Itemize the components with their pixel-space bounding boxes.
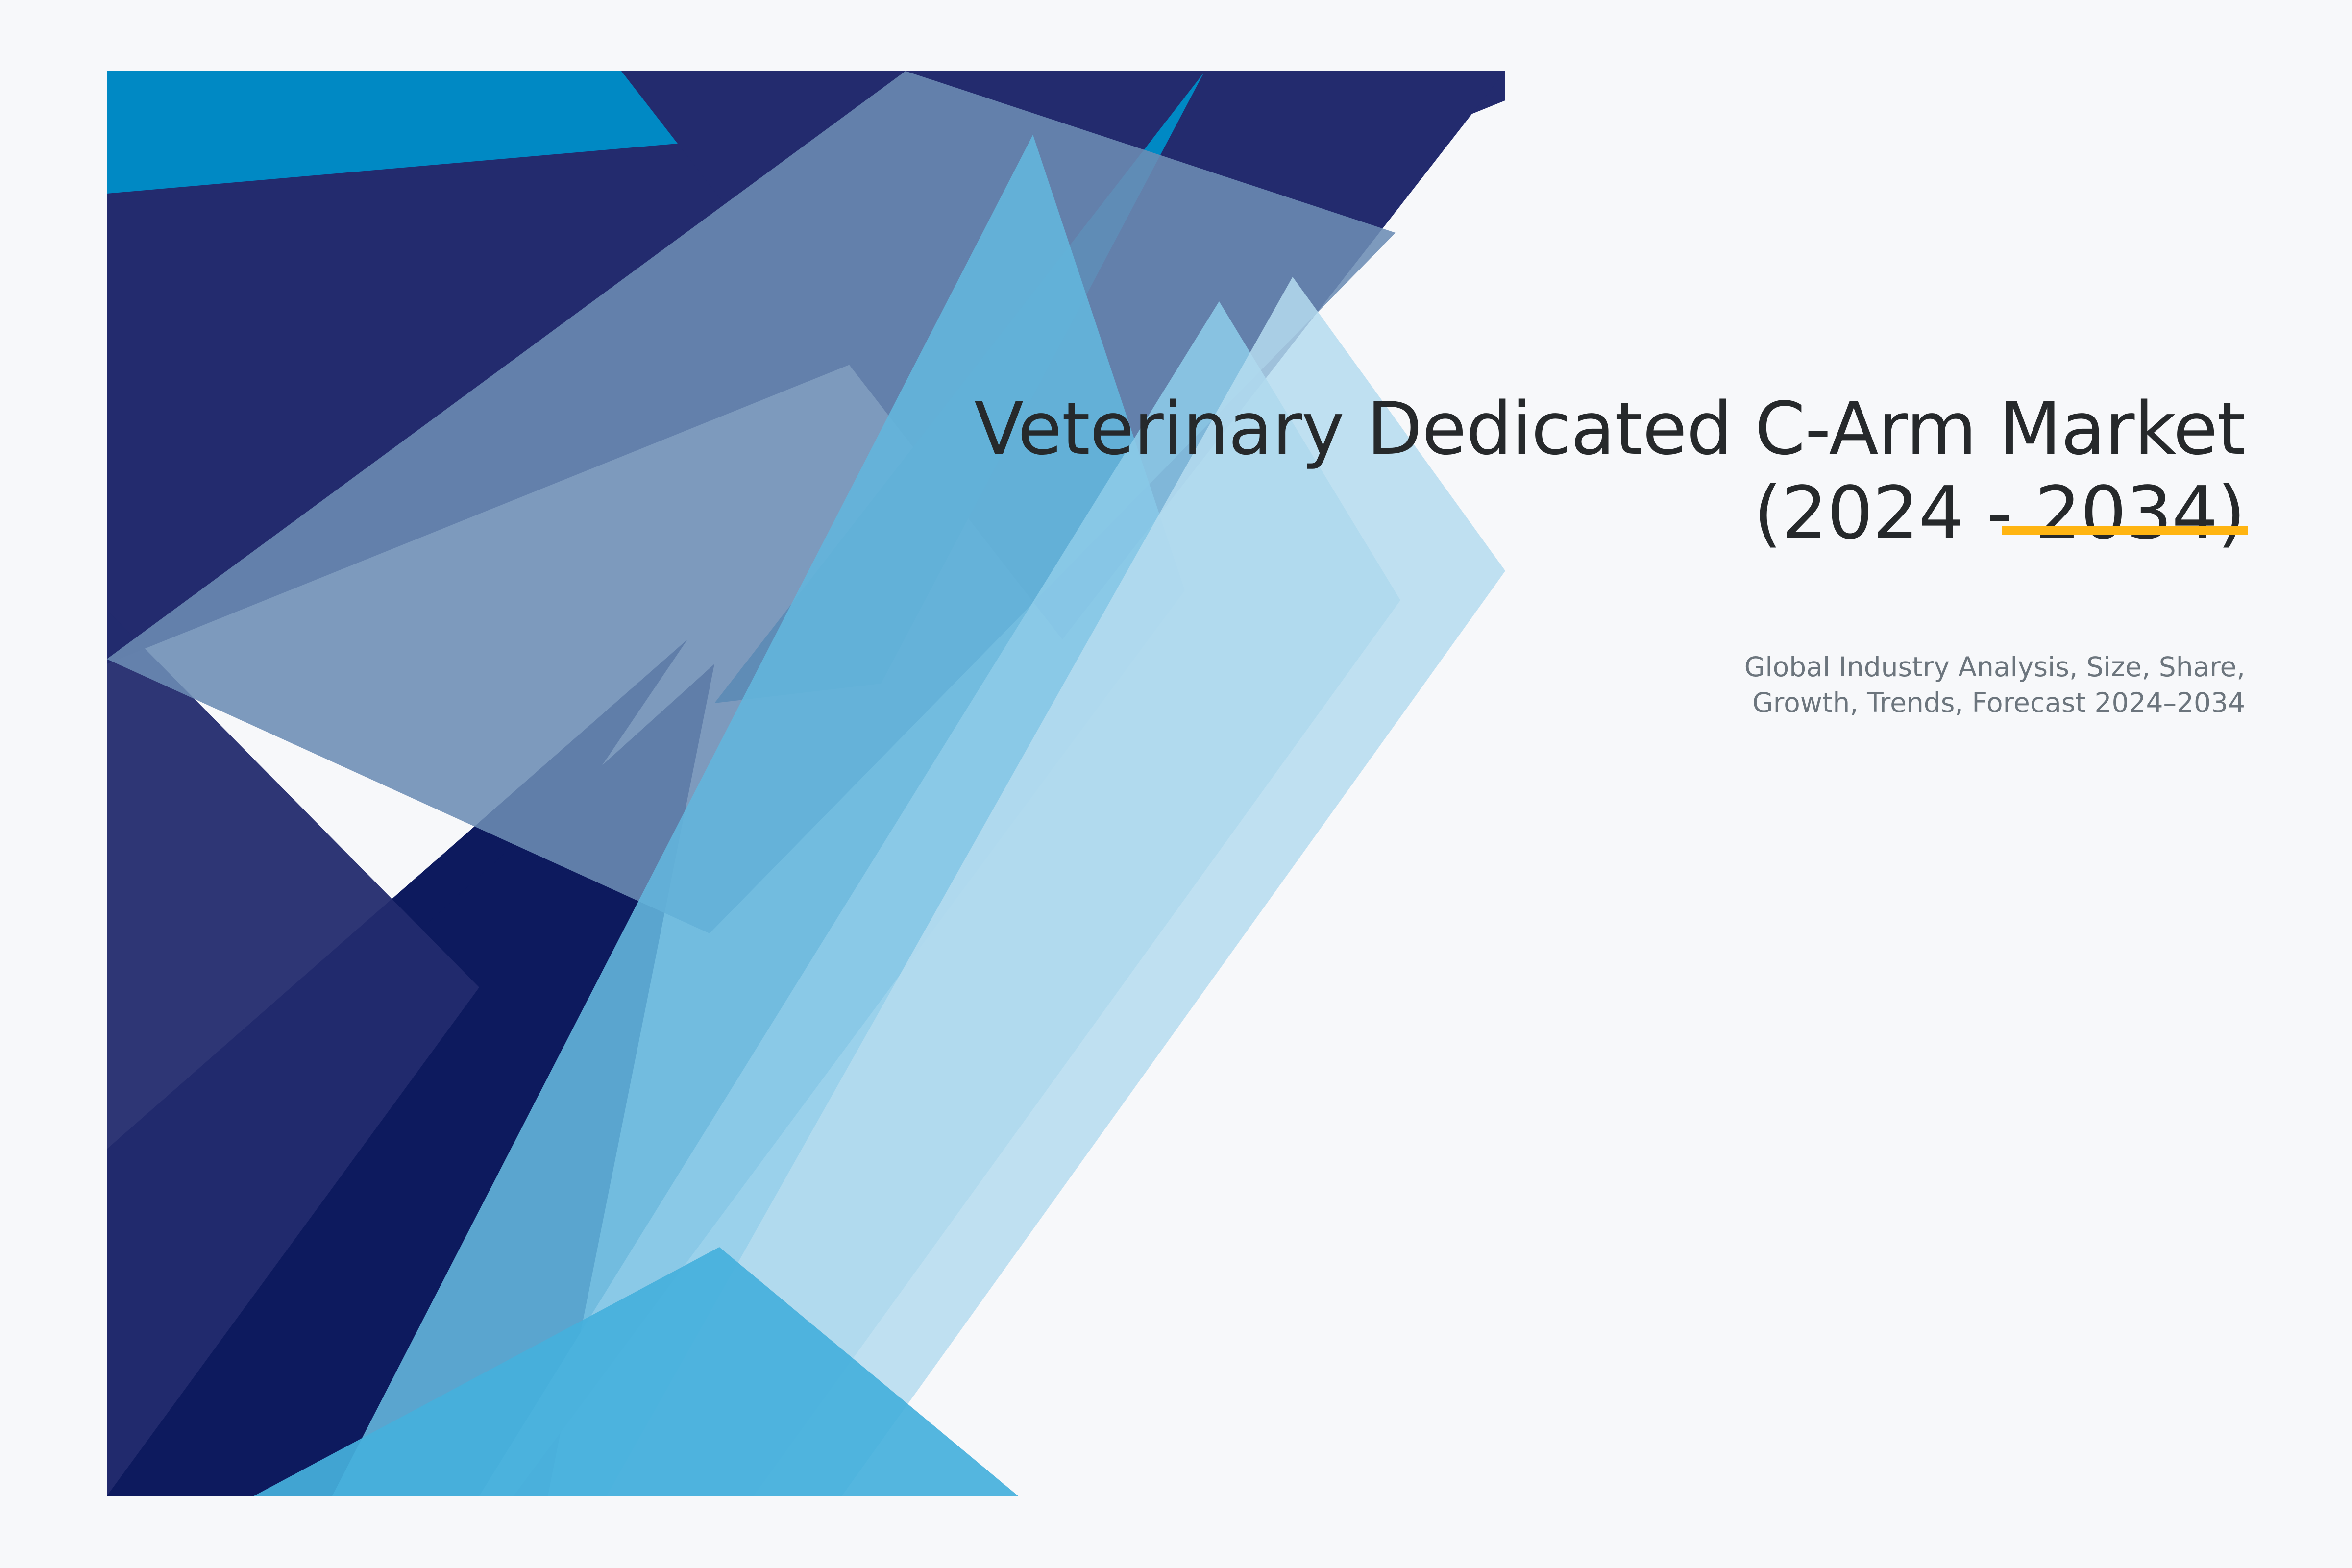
artwork-shape-group bbox=[107, 71, 1505, 1496]
subtitle-block: Global Industry Analysis, Size, Share, G… bbox=[1421, 649, 2245, 721]
title-accent-underline bbox=[2002, 526, 2248, 535]
page-subtitle: Global Industry Analysis, Size, Share, G… bbox=[1421, 649, 2245, 721]
abstract-geometric-artwork bbox=[107, 71, 1506, 1496]
report-cover-page: Veterinary Dedicated C-Arm Market (2024 … bbox=[0, 0, 2352, 1568]
